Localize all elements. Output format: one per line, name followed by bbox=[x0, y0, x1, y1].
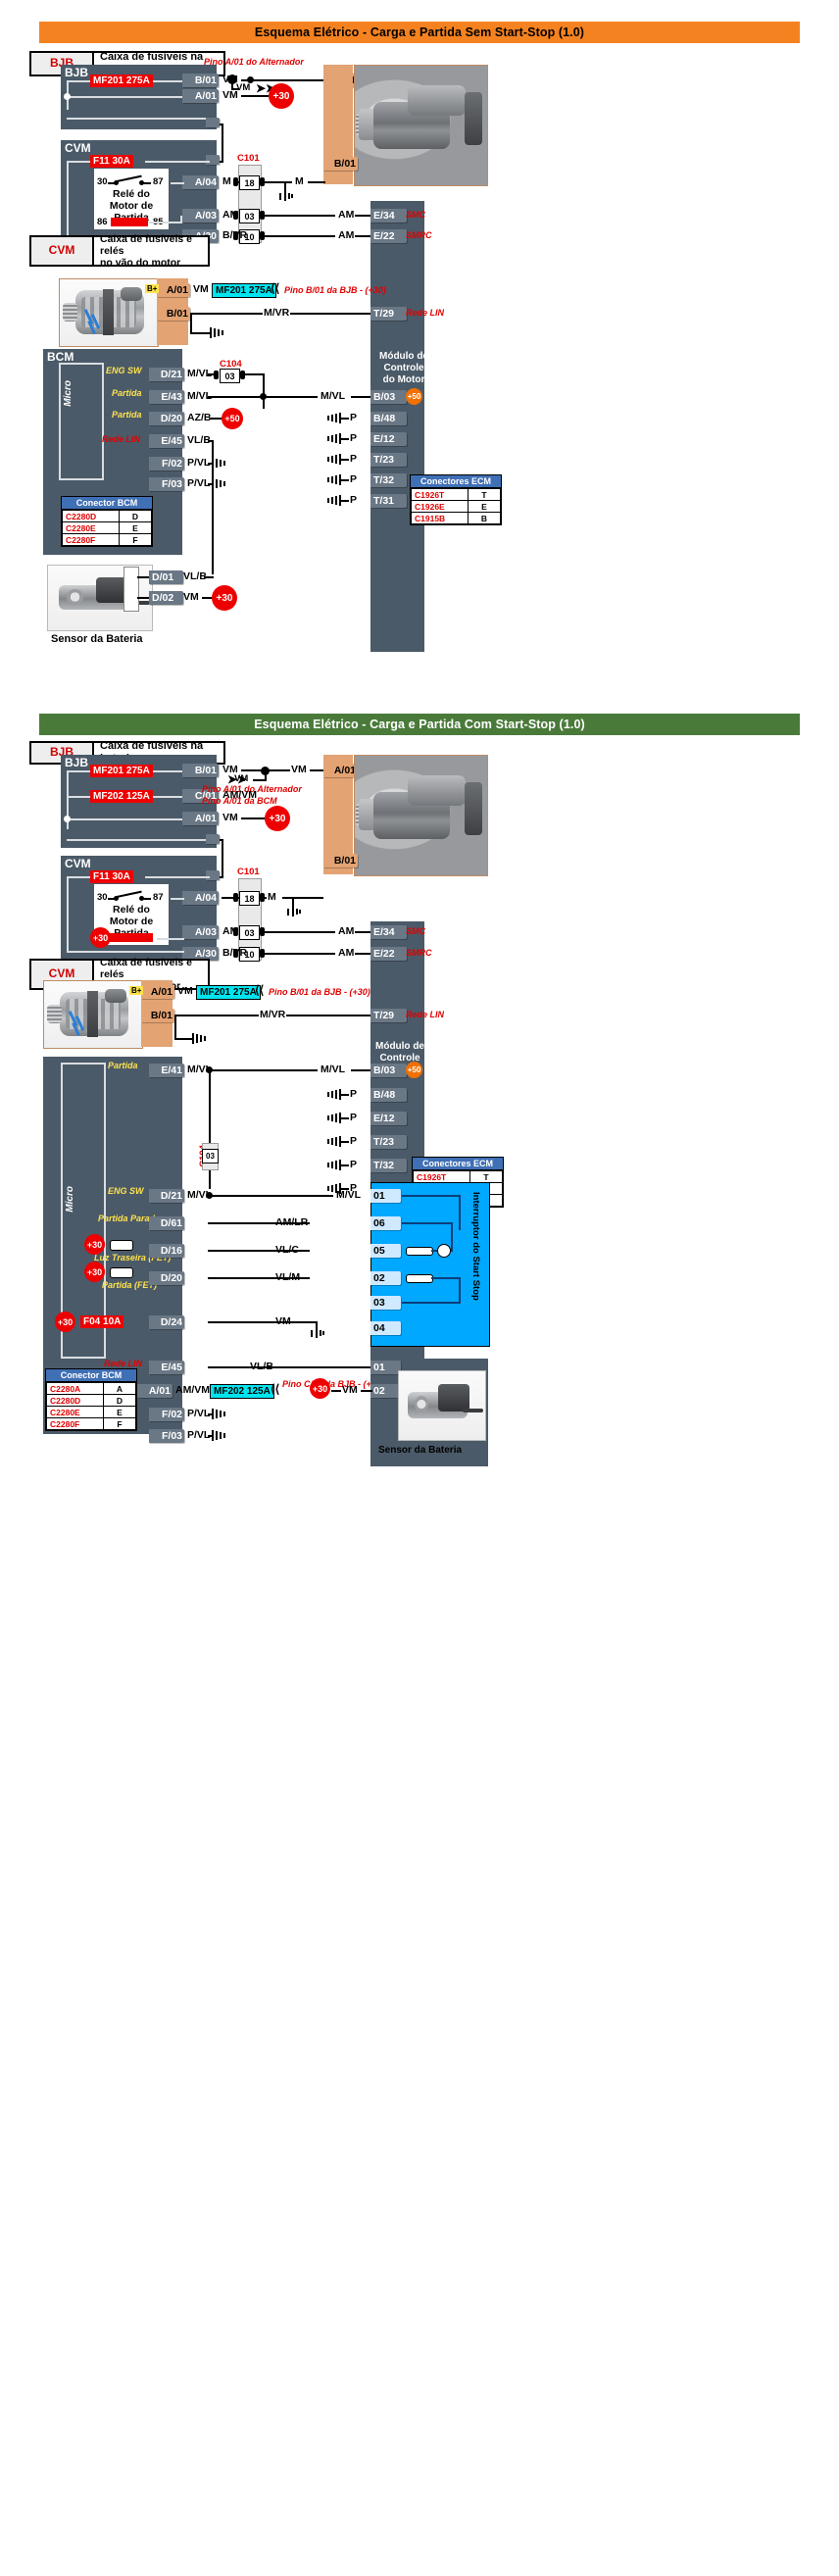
cvm-module-label-2: CVM bbox=[65, 857, 91, 870]
bvr-run-2 bbox=[265, 953, 335, 955]
ss-pin-06: 06 bbox=[370, 1216, 401, 1230]
ss-pin-04: 04 bbox=[370, 1321, 401, 1335]
relay-name-line2-2: Motor de bbox=[110, 916, 153, 927]
d21-junction-2 bbox=[206, 1192, 213, 1199]
gnd-wire-b48-1 bbox=[339, 418, 349, 420]
bcm-signal-engsw-2: ENG SW bbox=[108, 1186, 144, 1196]
battery-sensor-pin-d02-1: D/02 bbox=[149, 591, 183, 605]
battery-sensor-caption-2: Sensor da Bateria bbox=[378, 1445, 462, 1456]
am-to-ecm-e34-2 bbox=[355, 931, 370, 933]
lin-label-2: Rede LIN bbox=[406, 1010, 444, 1019]
ss-trace-right-3 bbox=[459, 1277, 461, 1303]
bjb-junction-dot-2 bbox=[64, 816, 71, 822]
wire-label-am-a03-2: AM bbox=[222, 925, 239, 937]
ecm-pin-e34-1: E/34 bbox=[370, 209, 407, 223]
bcm-pin-d20-1: D/20 bbox=[149, 412, 184, 425]
bcm-table-title-1: Conector BCM bbox=[62, 497, 152, 510]
ecm-pin-e34-2: E/34 bbox=[370, 925, 407, 939]
cvm-top-tab-1 bbox=[206, 155, 220, 165]
wire-label-amvm-a01-2: AM/VM bbox=[174, 1384, 211, 1396]
relay-name-line2-1: Motor de bbox=[110, 200, 153, 212]
table-row: C2280E E bbox=[63, 522, 152, 534]
wire-label-vm-a01-1: VM bbox=[222, 89, 239, 101]
bcm-signal-engsw-1: ENG SW bbox=[106, 366, 142, 375]
bcm-pin-f02-marker-1 bbox=[127, 457, 130, 467]
ground-label-smc-2: SMC bbox=[406, 926, 425, 936]
bcm-connector-table-1: Conector BCM C2280D D C2280E E C2280F F bbox=[61, 496, 153, 547]
ecm-row-2-val-1: B bbox=[469, 513, 501, 524]
starter-photo-1 bbox=[354, 65, 488, 186]
bcm-micro-left-1 bbox=[59, 363, 61, 478]
gnd-wire-t31-1 bbox=[339, 500, 349, 502]
ecm-pin-t23-2: T/23 bbox=[370, 1135, 407, 1149]
legend-cvm-tag-1: CVM bbox=[31, 237, 94, 265]
wire-label-vm-b01-right-2: VM bbox=[290, 764, 308, 775]
starter-pin-b01-2: B/01 bbox=[323, 854, 358, 867]
bcm-row-0-val-1: D bbox=[120, 511, 152, 522]
table-row: C2280A A bbox=[47, 1383, 136, 1395]
relay-to-a03-2 bbox=[157, 938, 184, 940]
starter-motor-image-2 bbox=[355, 756, 487, 875]
bcm-pin-f03-2: F/03 bbox=[149, 1429, 184, 1443]
alternator-bplus-badge-1: B+ bbox=[145, 284, 159, 293]
bcm-connector-table-2: Conector BCM C2280A A C2280D D C2280E E … bbox=[45, 1368, 137, 1431]
ground-symbol-alternator-1 bbox=[210, 327, 225, 338]
relay-to-a03-1 bbox=[149, 222, 182, 223]
ecm-module-1 bbox=[370, 201, 424, 652]
ecm-table-title-1: Conectores ECM bbox=[411, 475, 501, 488]
cvm-bus-1 bbox=[67, 161, 69, 235]
bcm-pin-f02-1: F/02 bbox=[149, 457, 184, 471]
relay-pin-87-1: 87 bbox=[153, 176, 164, 187]
wire-label-vm-d02-1: VM bbox=[182, 591, 200, 603]
bjb-pin-b01-1: B/01 bbox=[182, 74, 219, 87]
m-to-starter-1 bbox=[308, 181, 325, 183]
relay-pin-30-2: 30 bbox=[97, 892, 108, 903]
bjb-wire-bottom-2 bbox=[67, 839, 218, 841]
ecm-gnd-label-e12-2: P bbox=[349, 1112, 358, 1123]
bcm-pin-f03-1: F/03 bbox=[149, 477, 184, 491]
plus30-relay-coil-2: +30 bbox=[90, 927, 111, 948]
starter-motor-image-1 bbox=[355, 66, 487, 185]
bcm-pin-d24-2: D/24 bbox=[149, 1315, 184, 1329]
relay-to-a04-1 bbox=[171, 182, 184, 184]
battery-sensor-pin-02-2: 02 bbox=[370, 1384, 401, 1398]
ecm2-row-0-val: T bbox=[470, 1171, 503, 1183]
ecm-pin-e12-2: E/12 bbox=[370, 1112, 407, 1125]
wire-label-vm-alt-1: VM bbox=[192, 283, 210, 295]
wire-label-mvl-b03-1: M/VL bbox=[320, 390, 346, 402]
alternator-pin-b01-1: B/01 bbox=[157, 307, 190, 321]
bcm-signal-lin-1: Rede LIN bbox=[102, 434, 140, 444]
to-ecm-b03-1 bbox=[351, 396, 370, 398]
cvm-fuse-out-1 bbox=[145, 161, 210, 163]
c104-out-1 bbox=[245, 373, 265, 375]
wire-label-bvr-a30-1: B/VR bbox=[222, 229, 248, 241]
alt-gnd-run-2 bbox=[174, 1038, 194, 1040]
note-pino-b01-bjb-2: Pino B/01 da BJB - (+30) bbox=[269, 987, 370, 997]
ss-trace-06 bbox=[402, 1222, 453, 1224]
ecm-connector-table-1: Conectores ECM C1926T T C1926E E C1915B … bbox=[410, 474, 502, 525]
fuse-mf201-1: MF201 275A bbox=[90, 74, 153, 87]
ground-symbol-f03-2 bbox=[212, 1430, 227, 1441]
b01-run-b-2 bbox=[269, 769, 290, 771]
ecm-pin-e22-1: E/22 bbox=[370, 229, 407, 243]
bcm2-row-0-name: C2280A bbox=[47, 1383, 104, 1395]
ecm-gnd-label-t32-1: P bbox=[349, 473, 358, 485]
sensor-d02-wire-1 bbox=[137, 597, 149, 599]
ecm-row-1-val-1: E bbox=[469, 501, 501, 513]
alternator-photo-2 bbox=[43, 980, 143, 1049]
ecm-table-title-2: Conectores ECM bbox=[413, 1158, 503, 1170]
c104-pin-03-2: 03 bbox=[202, 1149, 219, 1164]
relay-coil-1 bbox=[111, 218, 148, 226]
legend-cvm-line1-1: Caixa de fusíveis e relés bbox=[100, 233, 202, 257]
table-row: C2280E E bbox=[47, 1407, 136, 1418]
battery-sensor-photo-2 bbox=[398, 1370, 486, 1441]
wire-label-mvl-b03-2: M/VL bbox=[320, 1064, 346, 1075]
wire-label-m-out-1: M bbox=[294, 175, 305, 187]
gnd-wire-t23-1 bbox=[339, 459, 349, 461]
cvm-module-label-1: CVM bbox=[65, 141, 91, 155]
bcm2-row-0-val: A bbox=[104, 1383, 136, 1395]
cvm-pin-a04-1: A/04 bbox=[182, 175, 219, 189]
bcm-row-0-name-1: C2280D bbox=[63, 511, 120, 522]
bcm-signal-partida-b-1: Partida bbox=[112, 410, 142, 420]
a01-to-plus30-2 bbox=[241, 817, 267, 819]
battery-sensor-panel-1 bbox=[123, 567, 139, 612]
relay-lead-87-2 bbox=[143, 898, 151, 900]
c101-out-to-b01-1 bbox=[265, 181, 292, 183]
ss-trace-03 bbox=[402, 1302, 461, 1304]
starter-pin-b01-1: B/01 bbox=[323, 157, 358, 171]
alt-gnd-drop-1 bbox=[190, 313, 192, 334]
ecm-pin-t29-2: T/29 bbox=[370, 1009, 407, 1022]
bcm-pin-e45-2: E/45 bbox=[149, 1361, 184, 1374]
bvr-to-ecm-e22-2 bbox=[355, 953, 370, 955]
bcm-pin-a01-2: A/01 bbox=[137, 1384, 173, 1398]
ground-label-smrc-2: SMRC bbox=[406, 948, 432, 958]
arrow-pair-icon-a01-2: ⟨⟨ bbox=[271, 1383, 279, 1395]
gnd-wire-e12-1 bbox=[339, 438, 349, 440]
battery-sensor-image-2 bbox=[399, 1371, 485, 1440]
m-to-starter-2 bbox=[282, 897, 323, 899]
ecm-pin-e22-2: E/22 bbox=[370, 947, 407, 961]
bcm-signal-partida-a-1: Partida bbox=[112, 388, 142, 398]
e43-junction-1 bbox=[260, 393, 267, 400]
d21-into-c104-1 bbox=[208, 373, 216, 375]
note-pino-c01-line1: Pino C/01 da BJB - (+30) bbox=[282, 1379, 384, 1389]
relay-lead-30-2 bbox=[108, 898, 116, 900]
c104-pin-03-1: 03 bbox=[220, 369, 240, 383]
diagram-2-title-banner: Esquema Elétrico - Carga e Partida Com S… bbox=[39, 714, 800, 735]
gnd-wire-b48-2 bbox=[339, 1094, 349, 1096]
alternator-image-1 bbox=[60, 279, 158, 346]
ecm-pin-b03-2: B/03 bbox=[370, 1064, 407, 1077]
ground-symbol-f02-2 bbox=[212, 1409, 227, 1419]
note-pino-a01-alternador-1: Pino A/01 do Alternador bbox=[204, 57, 304, 67]
c101-pin-18-2: 18 bbox=[239, 891, 260, 906]
wire-label-m-a04-2: M bbox=[267, 891, 277, 903]
alternator-pin-a01-2: A/01 bbox=[141, 985, 174, 999]
table-row: C2280D D bbox=[63, 511, 152, 522]
cvm-fuse-in-1 bbox=[67, 161, 90, 163]
ss-lamp-02 bbox=[406, 1274, 433, 1283]
bcm-micro-top-1 bbox=[59, 363, 104, 365]
bcm2-row-3-name: C2280F bbox=[47, 1418, 104, 1430]
gnd-wire-e12-2 bbox=[339, 1117, 349, 1119]
cvm-bus-2 bbox=[67, 876, 69, 951]
bcm-pin-d20-2: D/20 bbox=[149, 1271, 184, 1285]
table-row: C2280F F bbox=[47, 1418, 136, 1430]
legend-cvm-1: CVM Caixa de fusíveis e relés no vão do … bbox=[29, 235, 210, 267]
plus30-sensor-2: +30 bbox=[310, 1378, 330, 1399]
ground-symbol-starter-1 bbox=[277, 192, 293, 202]
cvm-fuse-in-2 bbox=[67, 876, 90, 878]
ss-trace-02 bbox=[431, 1277, 461, 1279]
table-row: C1926E E bbox=[412, 501, 501, 513]
d24-run-2 bbox=[208, 1321, 316, 1323]
a04-into-c101-1 bbox=[235, 181, 239, 183]
bcm-pin-d21-1: D/21 bbox=[149, 368, 184, 381]
wire-label-amlr-d61: AM/LR bbox=[274, 1216, 309, 1228]
connector-c101-label-2: C101 bbox=[237, 867, 260, 877]
ecm-label-line1-1: Módulo de bbox=[379, 351, 428, 362]
relay-lead-87-1 bbox=[143, 182, 151, 184]
bjb-pin-b01-2: B/01 bbox=[182, 764, 219, 777]
ground-label-smrc-1: SMRC bbox=[406, 230, 432, 240]
badge-50-ecm-1: +50 bbox=[406, 388, 422, 405]
starter-photo-2 bbox=[354, 755, 488, 876]
start-stop-switch-title: Interruptor do Start Stop bbox=[470, 1192, 481, 1301]
fuse-f11-2: F11 30A bbox=[90, 870, 133, 883]
relay-name-line1-2: Relé do bbox=[113, 904, 150, 916]
cvm-fuse-out-2 bbox=[145, 876, 210, 878]
ecm-pin-b48-1: B/48 bbox=[370, 412, 407, 425]
bjb-bottom-tab-1 bbox=[206, 118, 220, 127]
ss-pin-02: 02 bbox=[370, 1271, 401, 1285]
cvm-pin-a04-2: A/04 bbox=[182, 891, 219, 905]
ss-pin-05: 05 bbox=[370, 1244, 401, 1258]
plus30-badge-bjb-2: +30 bbox=[265, 806, 290, 831]
plus30-to-vm-2 bbox=[331, 1390, 341, 1392]
ground-symbol-f03-1 bbox=[212, 478, 227, 489]
bcm-pin-d21-2: D/21 bbox=[149, 1189, 184, 1203]
wire-label-mvr-2: M/VR bbox=[259, 1009, 286, 1020]
table-row: C2280F F bbox=[63, 534, 152, 546]
alternator-pin-a01-1: A/01 bbox=[157, 283, 190, 297]
arrow-pair-icon-alt-2: ⟨⟨ bbox=[255, 984, 264, 996]
wire-label-am-right2-1: AM bbox=[337, 229, 355, 241]
bjb-module-label-1: BJB bbox=[65, 66, 88, 79]
table-row: C1926T T bbox=[412, 489, 501, 501]
bvr-to-ecm-e22-1 bbox=[355, 235, 370, 237]
a03-drop-1 bbox=[180, 216, 182, 222]
c101-out-2 bbox=[265, 897, 267, 899]
cvm-pin-a03-2: A/03 bbox=[182, 925, 219, 939]
ecm-pin-b48-2: B/48 bbox=[370, 1088, 407, 1102]
bjb-bottom-tab-2 bbox=[206, 834, 220, 844]
arrow-pair-icon-alt-1: ⟨⟨ bbox=[271, 282, 279, 294]
wire-label-am-right-1: AM bbox=[337, 209, 355, 221]
bjb-to-cvm-link-1 bbox=[222, 124, 223, 163]
bcm-pin-d16-2: D/16 bbox=[149, 1244, 184, 1258]
wire-label-vm-d24: VM bbox=[274, 1315, 292, 1327]
bcm-pin-f02-2: F/02 bbox=[149, 1408, 184, 1421]
bcm2-row-2-val: E bbox=[104, 1407, 136, 1418]
ecm2-row-0-name: C1926T bbox=[414, 1171, 470, 1183]
ecm-gnd-label-t23-1: P bbox=[349, 453, 358, 465]
to-ecm-b03-2 bbox=[351, 1069, 370, 1071]
fuse-mf201-2: MF201 275A bbox=[90, 765, 153, 777]
gnd-wire-t23-2 bbox=[339, 1141, 349, 1143]
ground-symbol-alternator-2 bbox=[192, 1033, 208, 1044]
gnd-wire-t32-2 bbox=[339, 1164, 349, 1166]
alternator-image-2 bbox=[44, 981, 142, 1048]
bcm2-row-1-name: C2280D bbox=[47, 1395, 104, 1407]
relay-coil-2 bbox=[106, 933, 153, 942]
bcm-micro-top-2 bbox=[61, 1063, 106, 1065]
ss-lamp-05 bbox=[406, 1247, 433, 1256]
wire-label-am-a03-1: AM bbox=[222, 209, 239, 221]
b01-branch-left-2 bbox=[253, 779, 267, 781]
relay-pin-86-1: 86 bbox=[97, 217, 108, 227]
bcm-table-title-2: Conector BCM bbox=[46, 1369, 136, 1382]
bcm-micro-label-2: Micro bbox=[65, 1186, 75, 1213]
bcm-row-2-val-1: F bbox=[120, 534, 152, 546]
plus30-f04: +30 bbox=[55, 1312, 75, 1332]
bcm-pin-d61-2: D/61 bbox=[149, 1216, 184, 1230]
ecm-pin-t32-1: T/32 bbox=[370, 473, 407, 487]
cvm-bottom-bus-2 bbox=[67, 951, 184, 953]
bcm-row-1-val-1: E bbox=[120, 522, 152, 534]
plus30-badge-bjb-1: +30 bbox=[269, 83, 294, 109]
wire-label-bvr-a30-2: B/VR bbox=[222, 947, 248, 959]
ground-symbol-f02-1 bbox=[212, 458, 227, 469]
ss-pin-01: 01 bbox=[370, 1189, 401, 1203]
bcm2-row-2-name: C2280E bbox=[47, 1407, 104, 1418]
alternator-bplus-badge-2: B+ bbox=[129, 986, 143, 995]
ss-trace-right-2 bbox=[451, 1222, 453, 1250]
note-pino-c01-bjb-2: Pino C/01 da BJB - (+30) bbox=[282, 1380, 384, 1390]
alt-gnd-run-1 bbox=[190, 332, 212, 334]
bcm-micro-bottom-2 bbox=[61, 1357, 106, 1359]
relay-pin-87-2: 87 bbox=[153, 892, 164, 903]
c101-pin-03-1: 03 bbox=[239, 209, 260, 223]
ecm-gnd-label-t23-2: P bbox=[349, 1135, 358, 1147]
d01-to-bus-1 bbox=[204, 576, 214, 578]
wiring-diagram-page: Esquema Elétrico - Carga e Partida Sem S… bbox=[0, 0, 839, 2576]
ss-pin-03: 03 bbox=[370, 1296, 401, 1310]
bcm-pin-e45-1: E/45 bbox=[149, 434, 184, 448]
ss-led-icon bbox=[437, 1244, 451, 1258]
fuse-mf201-highlight-1: MF201 275A bbox=[212, 283, 276, 298]
ecm-label-line1-2: Módulo de bbox=[375, 1041, 424, 1052]
ecm-row-0-val-1: T bbox=[469, 489, 501, 501]
c101-pin-18-1: 18 bbox=[239, 175, 260, 190]
battery-sensor-caption-1: Sensor da Bateria bbox=[51, 633, 143, 645]
fuse-mf202-highlight-2: MF202 125A bbox=[210, 1384, 274, 1399]
d21-run-2 bbox=[208, 1195, 333, 1197]
bcm-micro-right-2 bbox=[104, 1063, 106, 1357]
table-row: C1926T T bbox=[414, 1171, 503, 1183]
bcm-micro-label-1: Micro bbox=[63, 380, 74, 407]
wire-label-mvl-ss01-2: M/VL bbox=[335, 1189, 362, 1201]
wire-a01-to-plus30-1 bbox=[241, 95, 269, 97]
bcm2-row-1-val: D bbox=[104, 1395, 136, 1407]
fuse-mf201-highlight-2: MF201 275A bbox=[196, 985, 261, 1000]
c101-pin-03-2: 03 bbox=[239, 925, 260, 940]
bvr-run-1 bbox=[265, 235, 335, 237]
ground-symbol-d24 bbox=[309, 1329, 324, 1339]
bcm-micro-bottom-1 bbox=[59, 478, 104, 480]
fuse-f04-2: F04 10A bbox=[80, 1315, 123, 1328]
ecm-module-label-1: Módulo de Controle do Motor bbox=[376, 351, 431, 386]
am-run-2 bbox=[265, 931, 335, 933]
ecm-row-0-name-1: C1926T bbox=[412, 489, 469, 501]
bjb-pin-a01-2: A/01 bbox=[182, 812, 219, 825]
ecm-row-2-name-1: C1915B bbox=[412, 513, 469, 524]
alternator-pin-b01-2: B/01 bbox=[141, 1009, 174, 1022]
wire-label-vlc-d16: VL/C bbox=[274, 1244, 300, 1256]
bjb-wire-bottom-1 bbox=[67, 118, 218, 120]
wire-label-vm-alt-2: VM bbox=[176, 985, 194, 997]
c104-down-1 bbox=[263, 373, 265, 409]
ecm-gnd-label-t32-2: P bbox=[349, 1159, 358, 1170]
fuse-mf202-2: MF202 125A bbox=[90, 790, 153, 803]
diagram-1-title-banner: Esquema Elétrico - Carga e Partida Sem S… bbox=[39, 22, 800, 43]
relay-to-a04-2 bbox=[171, 898, 184, 900]
ecm-pin-b03-1: B/03 bbox=[370, 390, 407, 404]
alternator-photo-1 bbox=[59, 278, 159, 347]
relay-lead-30-1 bbox=[108, 182, 116, 184]
bcm-micro-right-1 bbox=[102, 363, 104, 478]
sensor-d01-wire-1 bbox=[137, 576, 149, 578]
ecm-gnd-label-b48-2: P bbox=[349, 1088, 358, 1100]
gnd-wire-t32-1 bbox=[339, 479, 349, 481]
wire-label-vlm-d20: VL/M bbox=[274, 1271, 301, 1283]
legend-cvm-line2-1: no vão do motor bbox=[100, 257, 180, 269]
bcm-pin-e43-1: E/43 bbox=[149, 390, 184, 404]
ecm-pin-e12-1: E/12 bbox=[370, 432, 407, 446]
ecm-gnd-label-e12-1: P bbox=[349, 432, 358, 444]
e41-run-2 bbox=[208, 1069, 318, 1071]
relay-pin-30-1: 30 bbox=[97, 176, 108, 187]
cvm-pin-a03-1: A/03 bbox=[182, 209, 219, 223]
ss-trace-right-1 bbox=[459, 1195, 461, 1230]
battery-sensor-pin-d01-1: D/01 bbox=[149, 570, 183, 584]
bcm-row-1-name-1: C2280E bbox=[63, 522, 120, 534]
ecm-label-line2-1: Controle do Motor bbox=[383, 363, 425, 385]
lin-label-1: Rede LIN bbox=[406, 308, 444, 318]
fet-lamp-d16 bbox=[110, 1240, 133, 1251]
starter-pin-a01-2: A/01 bbox=[323, 764, 358, 777]
wire-label-vm-sensor-2: VM bbox=[341, 1384, 359, 1396]
ecm-pin-t23-1: T/23 bbox=[370, 453, 407, 467]
plus30-d20: +30 bbox=[84, 1262, 105, 1282]
plus50-badge-1: +50 bbox=[222, 408, 243, 429]
ss-trace-01 bbox=[402, 1195, 461, 1197]
legend-cvm-text-1: Caixa de fusíveis e relés no vão do moto… bbox=[94, 237, 208, 265]
legend-cvm-line1-2: Caixa de fusíveis e relés bbox=[100, 957, 202, 980]
ecm-pin-t29-1: T/29 bbox=[370, 307, 407, 321]
bcm-module-label-1: BCM bbox=[47, 350, 74, 364]
ground-symbol-starter-2 bbox=[285, 908, 301, 917]
fet-lamp-d20 bbox=[110, 1267, 133, 1278]
wire-label-mvr-1: M/VR bbox=[263, 307, 290, 319]
fuse-f11-1: F11 30A bbox=[90, 155, 133, 168]
vm-to-sensor-2 bbox=[361, 1390, 372, 1392]
